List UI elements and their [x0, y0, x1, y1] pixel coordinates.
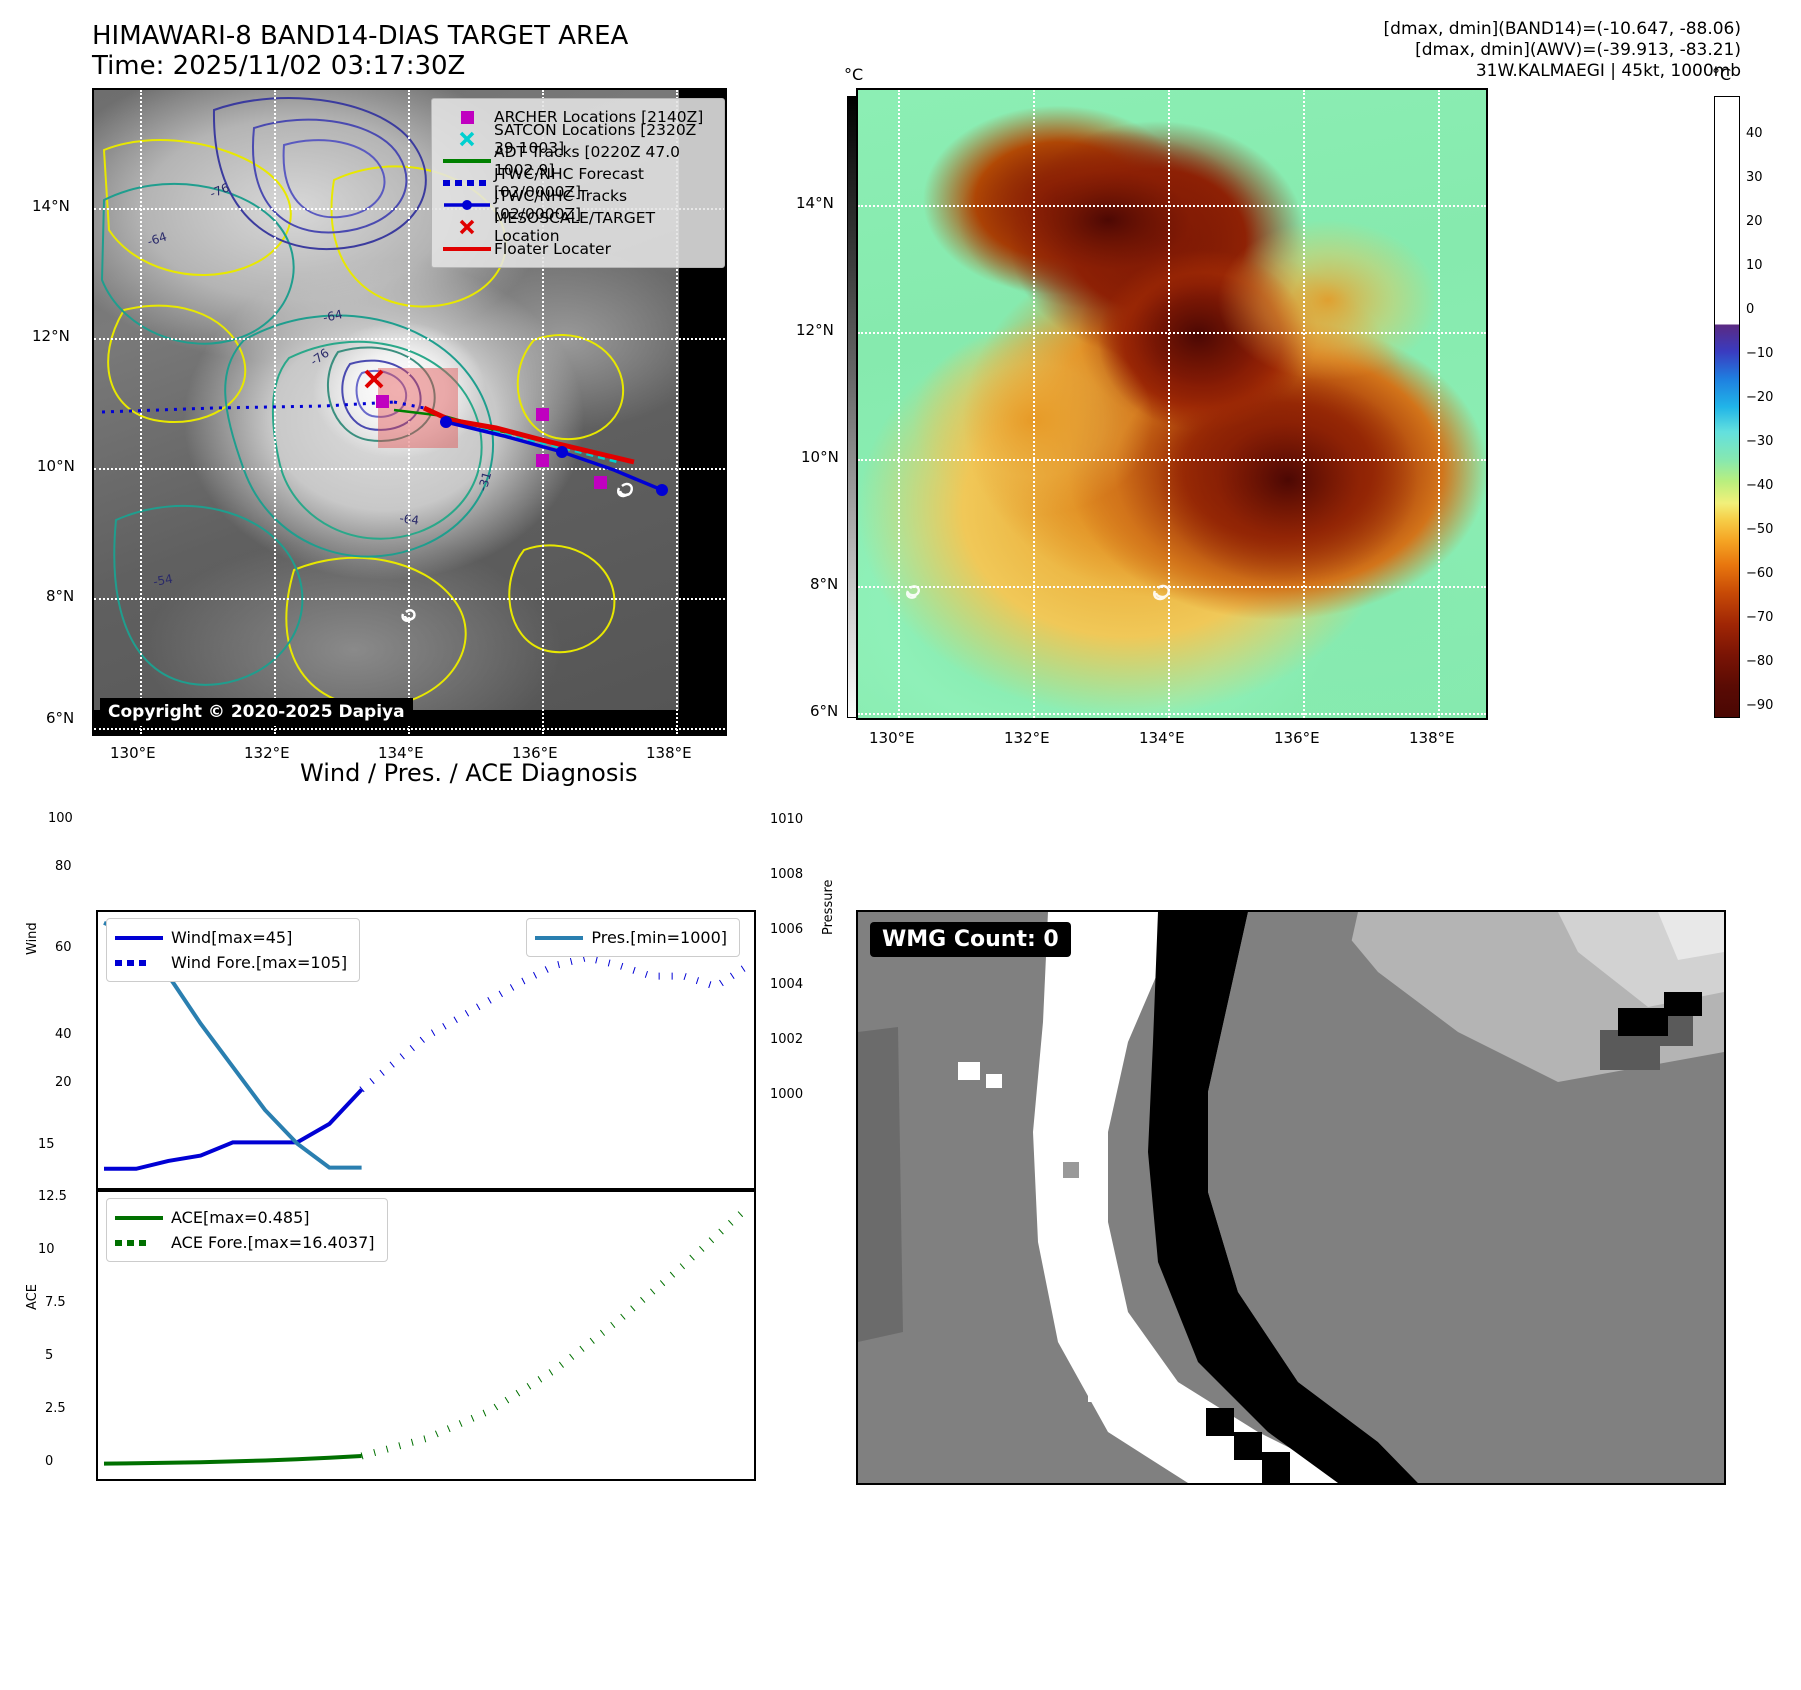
wind-legend: Wind[max=45] Wind Fore.[max=105]	[106, 918, 360, 982]
wind-line-icon	[115, 936, 171, 940]
awv-grid	[858, 90, 1486, 718]
pressure-ytick: 1000	[770, 1088, 803, 1103]
awv-xtick-136e: 136°E	[1274, 730, 1320, 747]
legend-label: Floater Locater	[494, 240, 611, 258]
dashboard-root: HIMAWARI-8 BAND14-DIAS TARGET AREA Time:…	[0, 0, 1801, 1690]
target-box	[378, 368, 458, 448]
legend-item-ace-forecast: ACE Fore.[max=16.4037]	[115, 1230, 375, 1255]
adt-line-icon	[440, 159, 494, 163]
awv-ytick-12n: 12°N	[796, 322, 834, 339]
pressure-ytick: 1006	[770, 923, 803, 938]
awv-cb-tick: 30	[1746, 171, 1763, 186]
ir-satellite-panel[interactable]: -64 -64 -64 -54 -76 -31 -76	[92, 88, 727, 736]
wmg-count-badge: WMG Count: 0	[870, 922, 1071, 957]
wmg-mask-svg	[858, 912, 1724, 1483]
pressure-axis-label: Pressure	[822, 879, 837, 935]
awv-cb-tick: 20	[1746, 215, 1763, 230]
stats-band14: [dmax, dmin](BAND14)=(-10.647, -88.06)	[1041, 20, 1741, 40]
awv-cb-tick: 40	[1746, 127, 1763, 142]
legend-label: Wind Fore.[max=105]	[171, 953, 347, 972]
wmg-image	[858, 912, 1724, 1483]
page-timestamp: Time: 2025/11/02 03:17:30Z	[92, 52, 465, 82]
storm-symbol	[403, 484, 632, 621]
ace-ytick: 12.5	[38, 1190, 67, 1205]
awv-satellite-panel[interactable]	[856, 88, 1488, 720]
legend-label: Pres.[min=1000]	[591, 928, 727, 947]
awv-cb-tick: −60	[1746, 567, 1773, 582]
legend-label: Wind[max=45]	[171, 928, 292, 947]
legend-item-pressure: Pres.[min=1000]	[535, 925, 727, 950]
ace-ytick: 10	[38, 1243, 55, 1258]
wind-forecast-dotted-icon	[115, 960, 171, 966]
ir-legend: ARCHER Locations [2140Z] SATCON Location…	[431, 98, 725, 268]
floater-line-icon	[440, 247, 494, 251]
wind-ytick: 80	[55, 860, 72, 875]
legend-label: ACE Fore.[max=16.4037]	[171, 1233, 375, 1252]
awv-cb-tick: −50	[1746, 523, 1773, 538]
ace-ytick: 2.5	[45, 1402, 66, 1417]
wind-pressure-chart[interactable]: Wind[max=45] Wind Fore.[max=105] Pres.[m…	[96, 910, 756, 1190]
ir-ytick-12n: 12°N	[32, 328, 70, 345]
copyright-notice: Copyright © 2020-2025 Dapiya	[100, 698, 413, 726]
satcon-x-icon	[440, 130, 494, 148]
legend-item-wind-forecast: Wind Fore.[max=105]	[115, 950, 347, 975]
ir-colorbar-title: °C	[844, 66, 863, 84]
awv-ytick-6n: 6°N	[810, 703, 838, 720]
ir-xtick-130e: 130°E	[110, 745, 156, 762]
ir-xtick-132e: 132°E	[244, 745, 290, 762]
archer-square-icon	[440, 111, 494, 124]
ace-forecast-dotted-icon	[115, 1240, 171, 1246]
wind-ytick: 20	[55, 1076, 72, 1091]
awv-ytick-10n: 10°N	[801, 449, 839, 466]
page-title: HIMAWARI-8 BAND14-DIAS TARGET AREA	[92, 22, 628, 52]
ace-ytick: 7.5	[45, 1296, 66, 1311]
diagnosis-title: Wind / Pres. / ACE Diagnosis	[300, 760, 638, 788]
awv-xtick-132e: 132°E	[1004, 730, 1050, 747]
pressure-line-icon	[535, 936, 591, 940]
jtwc-track	[446, 422, 662, 490]
ir-xtick-138e: 138°E	[646, 745, 692, 762]
awv-xtick-134e: 134°E	[1139, 730, 1185, 747]
legend-item-wind: Wind[max=45]	[115, 925, 347, 950]
awv-cb-tick: −20	[1746, 391, 1773, 406]
ace-line-icon	[115, 1216, 171, 1220]
ir-ytick-8n: 8°N	[46, 588, 74, 605]
wind-axis-label: Wind	[26, 922, 41, 955]
storm-summary: 31W.KALMAEGI | 45kt, 1000mb	[1041, 62, 1741, 82]
awv-cb-tick: −30	[1746, 435, 1773, 450]
awv-cb-tick: −80	[1746, 655, 1773, 670]
legend-item-mesoscale: MESOSCALE/TARGET Location	[440, 216, 714, 238]
wind-ytick: 40	[55, 1028, 72, 1043]
ir-ytick-14n: 14°N	[32, 198, 70, 215]
jtwc-forecast-track	[102, 402, 394, 412]
pressure-ytick: 1004	[770, 978, 803, 993]
ir-ytick-6n: 6°N	[46, 710, 74, 727]
pressure-ytick: 1008	[770, 868, 803, 883]
awv-cb-tick: 10	[1746, 259, 1763, 274]
awv-cb-tick: −90	[1746, 699, 1773, 714]
awv-ytick-14n: 14°N	[796, 195, 834, 212]
awv-colorbar	[1714, 96, 1740, 718]
pressure-ytick: 1002	[770, 1033, 803, 1048]
wind-ytick: 60	[55, 941, 72, 956]
ace-axis-label: ACE	[26, 1284, 41, 1310]
ace-ytick: 5	[45, 1349, 53, 1364]
awv-cb-tick: −70	[1746, 611, 1773, 626]
ace-legend: ACE[max=0.485] ACE Fore.[max=16.4037]	[106, 1198, 388, 1262]
awv-cb-tick: −10	[1746, 347, 1773, 362]
awv-colorbar-title: °C	[1712, 66, 1731, 84]
jtwc-track-line-dot-icon	[440, 198, 494, 212]
awv-cb-tick: 0	[1746, 303, 1754, 318]
ir-ytick-10n: 10°N	[37, 458, 75, 475]
awv-cb-tick: −40	[1746, 479, 1773, 494]
awv-xtick-138e: 138°E	[1409, 730, 1455, 747]
ace-chart[interactable]: ACE[max=0.485] ACE Fore.[max=16.4037]	[96, 1190, 756, 1481]
legend-label: ACE[max=0.485]	[171, 1208, 310, 1227]
wind-ytick: 100	[48, 812, 73, 827]
stats-awv: [dmax, dmin](AWV)=(-39.913, -83.21)	[1041, 41, 1741, 61]
legend-item-ace: ACE[max=0.485]	[115, 1205, 375, 1230]
ace-ytick: 15	[38, 1138, 55, 1153]
ace-ytick: 0	[45, 1455, 53, 1470]
awv-ytick-8n: 8°N	[810, 576, 838, 593]
awv-xtick-130e: 130°E	[869, 730, 915, 747]
jtwc-forecast-dotted-icon	[440, 180, 494, 186]
wmg-panel[interactable]: WMG Count: 0	[856, 910, 1726, 1485]
mesoscale-x-icon	[440, 218, 494, 236]
pressure-legend: Pres.[min=1000]	[526, 918, 740, 957]
pressure-ytick: 1010	[770, 813, 803, 828]
